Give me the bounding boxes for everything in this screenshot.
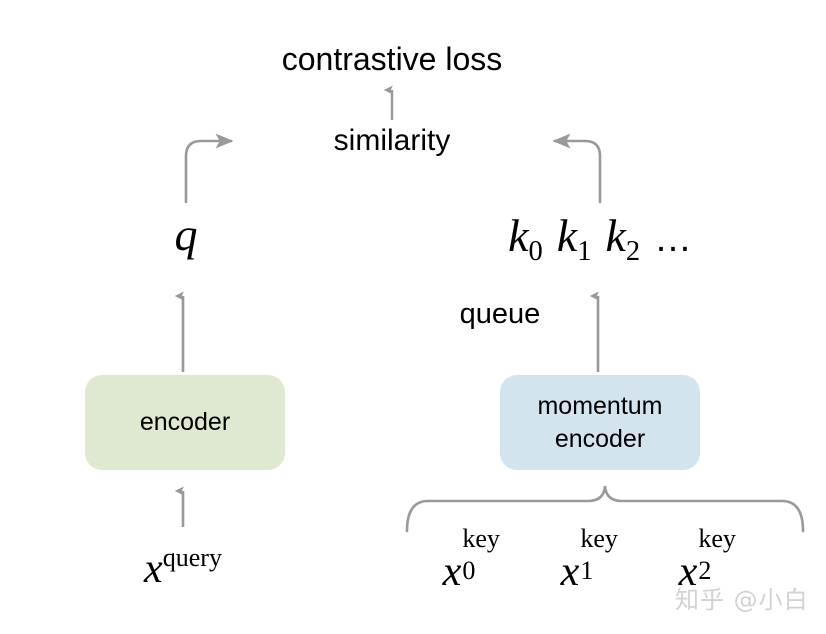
x-key-input-0-label: x key 0	[443, 543, 462, 598]
k0-symbol: k0	[508, 210, 543, 261]
x-query-base: x	[144, 546, 163, 592]
x-query-superscript: query	[163, 543, 222, 572]
momentum-encoder-line-1: momentum	[537, 392, 662, 420]
x-key-input-1-label: x key 1	[561, 543, 580, 598]
encoder-box[interactable]: encoder	[85, 375, 285, 470]
momentum-encoder-line-2: encoder	[555, 425, 645, 453]
encoder-box-label: encoder	[140, 406, 230, 439]
x-key-1-base: x	[561, 549, 580, 595]
contrastive-loss-label: contrastive loss	[282, 41, 503, 79]
watermark: 知乎 @小白	[675, 580, 809, 615]
queue-label: queue	[460, 297, 541, 331]
arrow-q-to-similarity	[186, 141, 232, 203]
keys-ellipsis: …	[654, 217, 692, 259]
moco-diagram-canvas: contrastive loss similarity queue q k0k1…	[0, 0, 826, 634]
k2-symbol: k2	[605, 210, 640, 261]
x-query-input-label: xquery	[144, 543, 222, 595]
q-symbol: q	[175, 208, 198, 262]
momentum-encoder-box-label: momentum encoder	[537, 390, 662, 455]
k1-symbol: k1	[557, 210, 592, 261]
arrow-keys-to-similarity	[554, 141, 600, 203]
similarity-label: similarity	[334, 123, 451, 158]
momentum-encoder-box[interactable]: momentum encoder	[500, 375, 700, 470]
x-key-0-base: x	[443, 549, 462, 595]
key-symbols-row: k0k1k2…	[508, 208, 692, 263]
